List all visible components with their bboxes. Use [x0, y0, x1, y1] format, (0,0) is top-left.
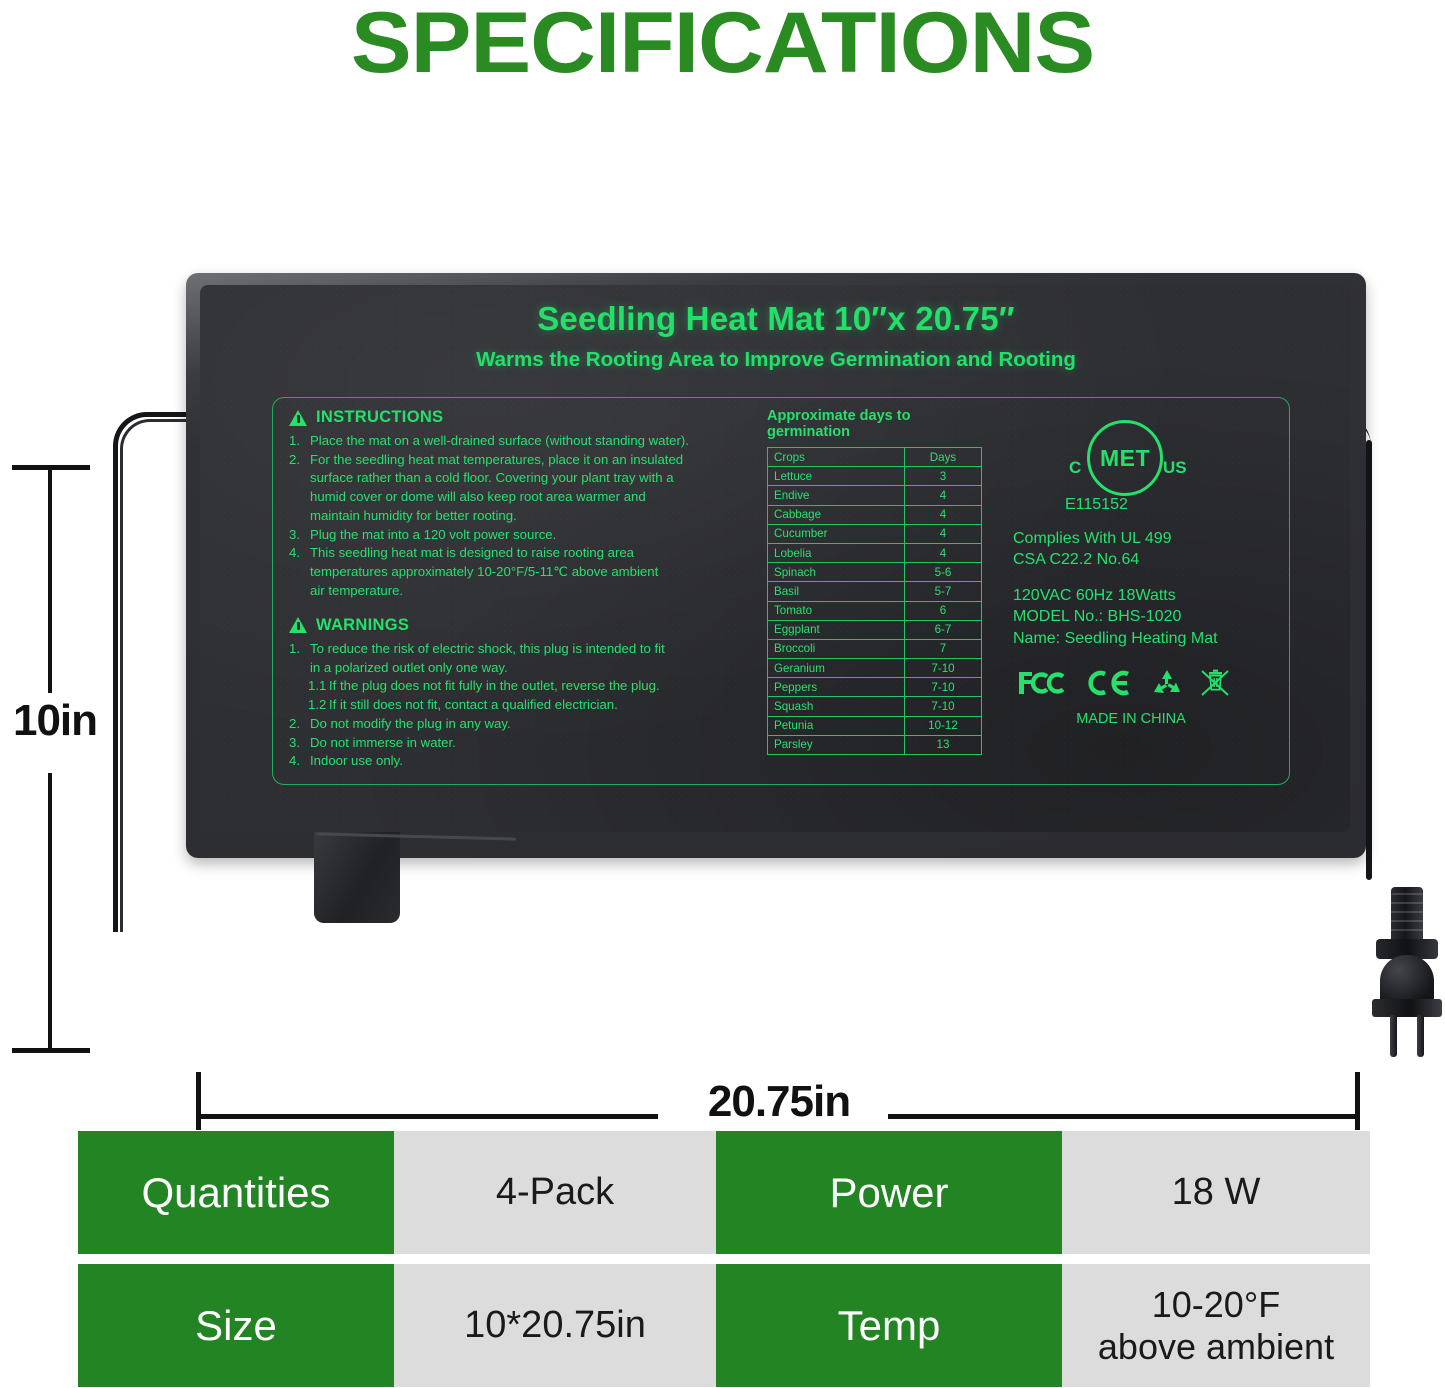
- cell-days: 4: [905, 543, 982, 562]
- cell-days: 13: [905, 735, 982, 754]
- height-dimension-cap-bottom: [12, 1048, 90, 1053]
- weee-icon: [1200, 667, 1230, 704]
- cell-crop: Lettuce: [768, 467, 905, 486]
- cell-crop: Peppers: [768, 678, 905, 697]
- list-item-number: 4.: [289, 752, 300, 770]
- cell-days: 7-10: [905, 697, 982, 716]
- width-dimension-cap-right: [1355, 1072, 1360, 1130]
- instructions-column: INSTRUCTIONS 1.Place the mat on a well-d…: [289, 408, 709, 771]
- spec-value: 10*20.75in: [394, 1264, 716, 1387]
- table-row: Parsley13: [768, 735, 982, 754]
- cell-crop: Geranium: [768, 659, 905, 678]
- list-item-text: in a polarized outlet only one way.: [310, 660, 508, 675]
- spec-key: Quantities: [78, 1131, 394, 1254]
- cell-crop: Endive: [768, 486, 905, 505]
- cell-crop: Lobelia: [768, 543, 905, 562]
- list-item-text: humid cover or dome will also keep root …: [310, 489, 646, 504]
- instructions-heading: INSTRUCTIONS: [289, 408, 709, 427]
- height-dimension-cap-top: [12, 465, 90, 470]
- page-title: SPECIFICATIONS: [0, 0, 1445, 93]
- country-of-origin: MADE IN CHINA: [1013, 711, 1275, 727]
- list-item-text: Indoor use only.: [310, 753, 403, 768]
- list-item-text: surface rather than a cold floor. Coveri…: [310, 470, 674, 485]
- met-us-label: US: [1163, 458, 1187, 478]
- power-plug: [1368, 887, 1445, 1057]
- list-item-text: maintain humidity for better rooting.: [310, 508, 517, 523]
- table-row: Spinach5-6: [768, 563, 982, 582]
- cell-days: 4: [905, 524, 982, 543]
- list-item: humid cover or dome will also keep root …: [289, 488, 709, 506]
- table-row: Endive4: [768, 486, 982, 505]
- product-illustration: Seedling Heat Mat 10″x 20.75″ Warms the …: [0, 190, 1445, 950]
- list-item-number: 1.: [289, 640, 300, 658]
- germination-column: Approximate days to germination CropsDay…: [767, 408, 997, 755]
- list-item-number: 1.1: [308, 677, 326, 695]
- spec-key: Power: [716, 1131, 1062, 1254]
- list-item-text: If the plug does not fit fully in the ou…: [329, 678, 660, 693]
- cell-days: 10-12: [905, 716, 982, 735]
- instructions-heading-text: INSTRUCTIONS: [316, 408, 443, 427]
- spec-key: Size: [78, 1264, 394, 1387]
- table-row: Lettuce3: [768, 467, 982, 486]
- list-item: 1.To reduce the risk of electric shock, …: [289, 640, 709, 658]
- list-item-number: 2.: [289, 715, 300, 733]
- list-item-text: air temperature.: [310, 583, 403, 598]
- list-item-text: Plug the mat into a 120 volt power sourc…: [310, 527, 556, 542]
- list-item-text: temperatures approximately 10-20°F/5-11℃…: [310, 564, 658, 579]
- warnings-block: WARNINGS 1.To reduce the risk of electri…: [289, 616, 709, 771]
- spec-value: 18 W: [1062, 1131, 1370, 1254]
- cell-days: 6-7: [905, 620, 982, 639]
- list-item-text: If it still does not fit, contact a qual…: [329, 697, 618, 712]
- complies-line-1: Complies With UL 499: [1013, 528, 1275, 549]
- list-item: 2.Do not modify the plug in any way.: [289, 715, 709, 733]
- cell-crop: Basil: [768, 582, 905, 601]
- cell-days: 6: [905, 601, 982, 620]
- list-item-text: To reduce the risk of electric shock, th…: [310, 641, 665, 656]
- cell-crop: Cucumber: [768, 524, 905, 543]
- cell-days: 7-10: [905, 659, 982, 678]
- list-item-number: 3.: [289, 734, 300, 752]
- seedling-heat-mat: Seedling Heat Mat 10″x 20.75″ Warms the …: [186, 273, 1366, 858]
- certification-file-number: E115152: [1065, 496, 1275, 514]
- list-item-number: 1.2: [308, 696, 326, 714]
- list-item-number: 3.: [289, 526, 300, 544]
- germination-caption: Approximate days to germination: [767, 408, 997, 440]
- plug-prong-right: [1417, 1015, 1424, 1057]
- list-item: 3.Plug the mat into a 120 volt power sou…: [289, 526, 709, 544]
- warning-triangle-icon: [289, 617, 307, 633]
- table-row: Cucumber4: [768, 524, 982, 543]
- list-item-number: 2.: [289, 451, 300, 469]
- height-dimension: [38, 465, 40, 1053]
- met-c-label: C: [1069, 458, 1081, 478]
- table-row: Broccoli7: [768, 639, 982, 658]
- list-item: 4.This seedling heat mat is designed to …: [289, 544, 709, 562]
- list-item: surface rather than a cold floor. Coveri…: [289, 469, 709, 487]
- spec-key: Temp: [716, 1264, 1062, 1387]
- table-row: Squash7-10: [768, 697, 982, 716]
- cell-days: 4: [905, 505, 982, 524]
- table-header-row: CropsDays: [768, 448, 982, 467]
- warning-triangle-icon: [289, 410, 307, 426]
- list-item: 2.For the seedling heat mat temperatures…: [289, 451, 709, 469]
- specification-table: Quantities4-PackPower18 WSize10*20.75inT…: [78, 1131, 1370, 1387]
- spec-value: 4-Pack: [394, 1131, 716, 1254]
- cell-crop: Parsley: [768, 735, 905, 754]
- list-item: 4.Indoor use only.: [289, 752, 709, 770]
- product-name: Name: Seedling Heating Mat: [1013, 628, 1275, 649]
- list-item: 1.1If the plug does not fit fully in the…: [289, 677, 709, 695]
- list-item-text: Do not modify the plug in any way.: [310, 716, 511, 731]
- cell-days: 7-10: [905, 678, 982, 697]
- cell-days: 3: [905, 467, 982, 486]
- cell-crop: Petunia: [768, 716, 905, 735]
- list-item: temperatures approximately 10-20°F/5-11℃…: [289, 563, 709, 581]
- list-item-text: This seedling heat mat is designed to ra…: [310, 545, 634, 560]
- model-number: MODEL No.: BHS-1020: [1013, 606, 1275, 627]
- cell-crop: Squash: [768, 697, 905, 716]
- column-header-days: Days: [905, 448, 982, 467]
- instructions-list: 1.Place the mat on a well-drained surfac…: [289, 432, 709, 600]
- table-row: Eggplant6-7: [768, 620, 982, 639]
- list-item: air temperature.: [289, 582, 709, 600]
- cell-days: 4: [905, 486, 982, 505]
- column-header-crops: Crops: [768, 448, 905, 467]
- list-item-number: 4.: [289, 544, 300, 562]
- warnings-heading-text: WARNINGS: [316, 616, 409, 635]
- table-row: Geranium7-10: [768, 659, 982, 678]
- fcc-icon: [1017, 670, 1069, 701]
- table-row: Lobelia4: [768, 543, 982, 562]
- table-row: Petunia10-12: [768, 716, 982, 735]
- plug-body: [1380, 955, 1434, 1005]
- list-item-text: Place the mat on a well-drained surface …: [310, 433, 689, 448]
- ce-icon: [1086, 670, 1134, 701]
- width-dimension-label: 20.75in: [634, 1077, 924, 1127]
- germination-table: CropsDaysLettuce3Endive4Cabbage4Cucumber…: [767, 447, 982, 755]
- compliance-icons: [1013, 665, 1275, 705]
- table-row: Basil5-7: [768, 582, 982, 601]
- plug-strain-relief: [1391, 887, 1423, 943]
- cell-crop: Tomato: [768, 601, 905, 620]
- list-item: in a polarized outlet only one way.: [289, 659, 709, 677]
- electrical-rating: 120VAC 60Hz 18Watts: [1013, 585, 1275, 606]
- cell-crop: Cabbage: [768, 505, 905, 524]
- table-row: Cabbage4: [768, 505, 982, 524]
- warnings-heading: WARNINGS: [289, 616, 709, 635]
- met-circle-icon: MET: [1087, 420, 1163, 496]
- cell-days: 5-6: [905, 563, 982, 582]
- warnings-list: 1.To reduce the risk of electric shock, …: [289, 640, 709, 771]
- cell-crop: Spinach: [768, 563, 905, 582]
- power-cord-drop: [1366, 440, 1372, 880]
- cell-days: 7: [905, 639, 982, 658]
- mat-label-panel: INSTRUCTIONS 1.Place the mat on a well-d…: [272, 397, 1290, 785]
- mat-subtitle: Warms the Rooting Area to Improve Germin…: [186, 348, 1366, 372]
- height-dimension-label: 10in: [0, 696, 110, 746]
- plug-prong-left: [1390, 1015, 1397, 1057]
- mat-title: Seedling Heat Mat 10″x 20.75″: [186, 300, 1366, 338]
- spec-value: 10-20°Fabove ambient: [1062, 1264, 1370, 1387]
- list-item-text: Do not immerse in water.: [310, 735, 456, 750]
- table-row: Peppers7-10: [768, 678, 982, 697]
- table-row: Tomato6: [768, 601, 982, 620]
- list-item: 1.Place the mat on a well-drained surfac…: [289, 432, 709, 450]
- width-dimension-cap-left: [196, 1072, 201, 1130]
- cell-days: 5-7: [905, 582, 982, 601]
- recycle-icon: [1151, 668, 1183, 703]
- complies-line-2: CSA C22.2 No.64: [1013, 549, 1275, 570]
- cell-crop: Eggplant: [768, 620, 905, 639]
- certification-column: MET C US E115152 Complies With UL 499 CS…: [1013, 420, 1275, 727]
- list-item: 1.2If it still does not fit, contact a q…: [289, 696, 709, 714]
- met-mark: MET C US: [1013, 420, 1275, 490]
- list-item-number: 1.: [289, 432, 300, 450]
- list-item-text: For the seedling heat mat temperatures, …: [310, 452, 683, 467]
- cell-crop: Broccoli: [768, 639, 905, 658]
- list-item: maintain humidity for better rooting.: [289, 507, 709, 525]
- plug-face: [1372, 999, 1442, 1017]
- list-item: 3.Do not immerse in water.: [289, 734, 709, 752]
